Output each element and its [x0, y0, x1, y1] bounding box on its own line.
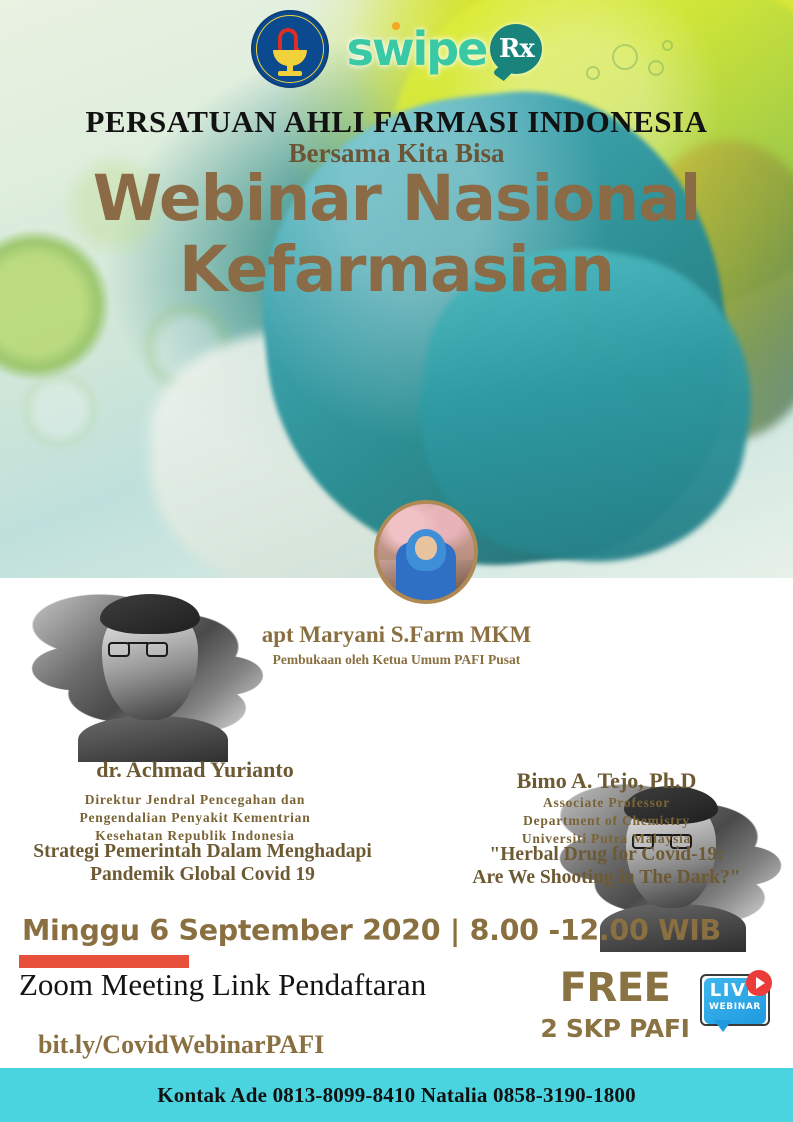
glasses-lens-icon — [146, 642, 168, 657]
virus-particle-icon — [20, 370, 100, 450]
speaker-name-1: dr. Achmad Yurianto — [0, 757, 390, 783]
speaker-topic-2: "Herbal Drug for Covid-19: Are We Shooti… — [420, 843, 793, 889]
glasses-bridge-icon — [128, 642, 148, 656]
speaker-affiliation-2: Associate Professor Department of Chemis… — [420, 794, 793, 847]
platform-line: Zoom Meeting Link Pendaftaran — [19, 967, 579, 1003]
registration-link[interactable]: bit.ly/CovidWebinarPAFI — [38, 1030, 458, 1060]
speaker-name-2: Bimo A. Tejo, Ph.D — [420, 768, 793, 794]
price-label: FREE — [540, 968, 690, 1008]
bowl-base-icon — [278, 71, 302, 76]
avatar-face — [415, 536, 437, 560]
live-webinar-badge-icon: LIVE WEBINAR — [698, 972, 774, 1034]
event-date-time: Minggu 6 September 2020 | 8.00 -12.00 WI… — [22, 914, 722, 947]
logo-bar: swipe Rx — [0, 6, 793, 92]
pafi-logo-icon — [251, 10, 329, 88]
opening-speaker-avatar — [374, 500, 478, 604]
organization-title: PERSATUAN AHLI FARMASI INDONESIA — [0, 104, 793, 140]
swipe-wordmark: swipe — [347, 26, 487, 72]
swipe-dot-icon — [392, 22, 400, 30]
speaker-portrait-achmad-yurianto — [28, 582, 268, 762]
main-title-line-2: Kefarmasian — [0, 235, 793, 306]
contact-footer: Kontak Ade 0813-8099-8410 Natalia 0858-3… — [0, 1068, 793, 1122]
swiperx-logo: swipe Rx — [347, 24, 543, 74]
webinar-label: WEBINAR — [704, 1002, 766, 1012]
page-title: Webinar Nasional Kefarmasian — [0, 164, 793, 305]
play-button-icon — [746, 970, 772, 996]
badge-tail — [714, 1020, 732, 1032]
speaker-affiliation-1: Direktur Jendral Pencegahan dan Pengenda… — [0, 791, 390, 844]
price-badge: FREE 2 SKP PAFI — [540, 968, 690, 1043]
rx-label: Rx — [499, 34, 534, 64]
speaker-topic-1: Strategi Pemerintah Dalam Menghadapi Pan… — [0, 840, 405, 886]
portrait-shoulders — [78, 716, 228, 762]
contact-text: Kontak Ade 0813-8099-8410 Natalia 0858-3… — [157, 1083, 636, 1108]
webinar-poster: swipe Rx PERSATUAN AHLI FARMASI INDONESI… — [0, 0, 793, 1122]
main-title-line-1: Webinar Nasional — [93, 162, 701, 235]
credits-label: 2 SKP PAFI — [540, 1014, 690, 1043]
glasses-lens-icon — [108, 642, 130, 657]
rx-speech-bubble-icon: Rx — [490, 24, 542, 74]
